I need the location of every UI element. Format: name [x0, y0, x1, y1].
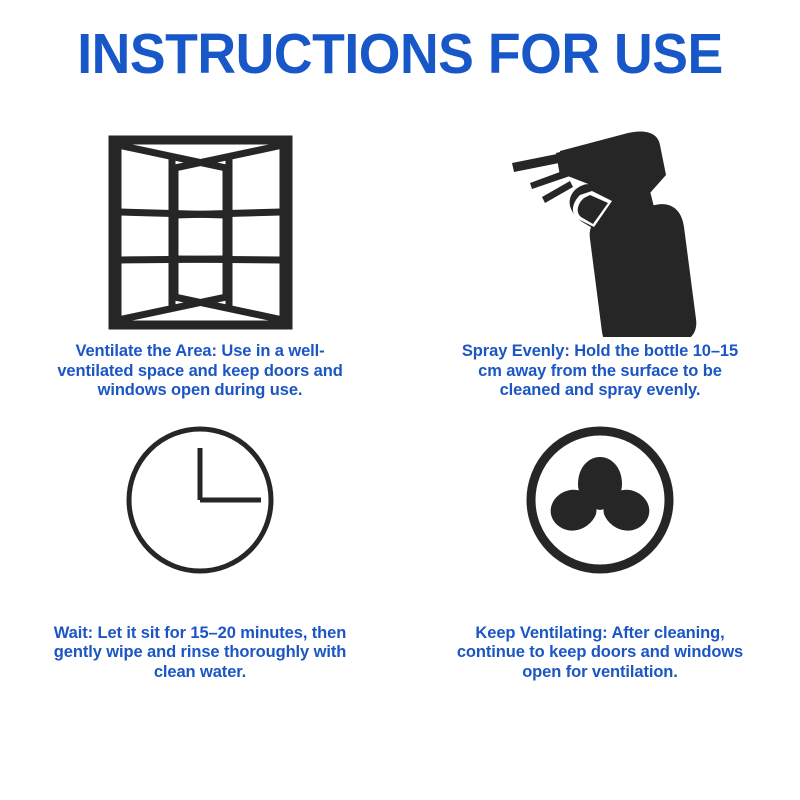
step-ventilate-caption: Ventilate the Area: Use in a well-ventil… — [50, 342, 350, 401]
step-keep-ventilating: Keep Ventilating: After cleaning, contin… — [400, 402, 800, 682]
clock-icon — [124, 424, 276, 576]
step-ventilate-icon-area — [0, 122, 400, 342]
step-spray: Spray Evenly: Hold the bottle 10–15 cm a… — [400, 122, 800, 402]
step-wait-caption: Wait: Let it sit for 15–20 minutes, then… — [50, 624, 350, 683]
step-keep-ventilating-icon-area — [400, 402, 800, 598]
fan-icon — [524, 424, 676, 576]
step-wait-icon-area — [0, 402, 400, 598]
spray-bottle-icon — [500, 127, 700, 337]
step-ventilate: Ventilate the Area: Use in a well-ventil… — [0, 122, 400, 402]
step-keep-ventilating-caption: Keep Ventilating: After cleaning, contin… — [455, 624, 745, 683]
step-spray-icon-area — [400, 122, 800, 342]
step-spray-caption: Spray Evenly: Hold the bottle 10–15 cm a… — [457, 342, 743, 401]
open-window-icon — [108, 135, 293, 330]
step-wait: Wait: Let it sit for 15–20 minutes, then… — [0, 402, 400, 682]
page-title: INSTRUCTIONS FOR USE — [24, 26, 776, 83]
instructions-poster: INSTRUCTIONS FOR USE — [0, 0, 800, 800]
steps-grid: Ventilate the Area: Use in a well-ventil… — [0, 122, 800, 742]
